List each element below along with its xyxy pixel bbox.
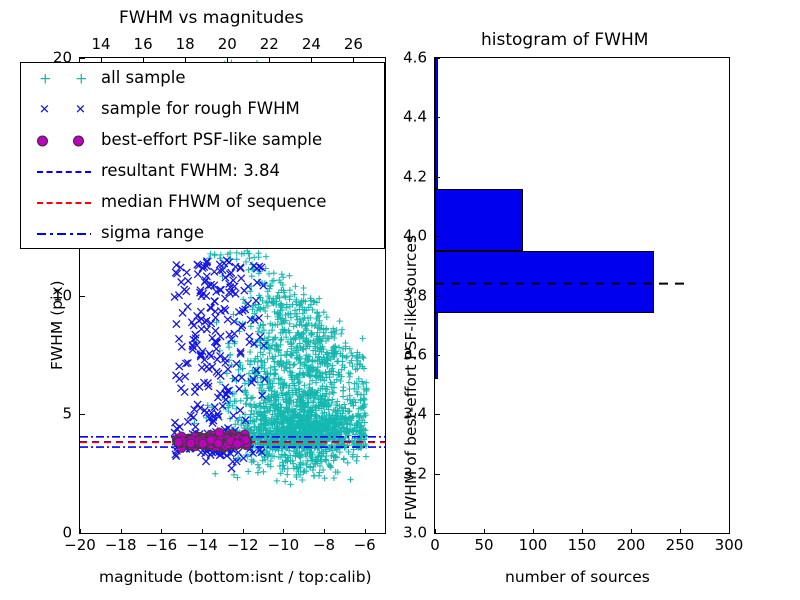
legend-marker-plus-icon: ++ [29,66,101,92]
legend-marker-cross-icon: ✕✕ [29,97,101,123]
left-top-tick-label: 22 [260,37,279,52]
left-x-tick-label: −14 [186,538,218,553]
left-x-tick-label: −20 [64,538,96,553]
left-x-tick-mark [121,529,122,533]
left-x-tick-label: −12 [227,538,259,553]
histogram-y-tick-mark [435,355,440,356]
histogram-x-tick-mark [631,529,632,533]
histogram-overlay [435,58,729,533]
left-x-tick-mark [365,529,366,533]
histogram-x-tick-label: 150 [568,538,597,553]
legend-marker-dashdot-line-icon [29,221,101,247]
left-top-tick-label: 18 [176,37,195,52]
legend-item[interactable]: best-effort PSF-like sample [21,125,384,156]
histogram-y-tick-mark [435,533,440,534]
legend-label: sample for rough FWHM [101,101,300,118]
histogram-x-tick-label: 250 [666,538,695,553]
histogram-y-axis-label: FWHM of best-effort PSF-like sources [404,235,420,520]
cross-icon: ✕ [75,103,86,116]
plus-icon: + [39,71,52,86]
left-x-tick-label: −16 [146,538,178,553]
histogram-y-tick-mark [435,414,440,415]
left-top-tick-label: 26 [344,37,363,52]
left-top-tick-label: 20 [218,37,237,52]
legend-marker-dashed-line-icon [29,190,101,216]
plus-icon: + [75,71,88,86]
histogram-y-tick-mark [435,58,440,59]
histogram-x-tick-label: 0 [430,538,440,553]
left-x-tick-label: −10 [268,538,300,553]
histogram-y-tick-label: 4.2 [403,169,427,184]
histogram-x-tick-mark [582,529,583,533]
histogram-y-tick-mark [435,117,440,118]
left-top-tick-label: 14 [91,37,110,52]
left-top-tick-mark [101,58,102,62]
histogram-y-tick-mark [435,177,440,178]
histogram-y-tick-mark [435,236,440,237]
left-x-tick-label: −18 [105,538,137,553]
left-y-tick-mark [80,296,85,297]
histogram-y-tick-label: 4.6 [403,51,427,66]
left-x-tick-label: −8 [313,538,335,553]
right-plot-title: histogram of FWHM [481,32,648,49]
legend-label: all sample [101,70,186,87]
left-y-tick-mark [80,414,85,415]
left-x-tick-mark [202,529,203,533]
histogram-x-tick-label: 100 [519,538,548,553]
left-top-tick-mark [185,58,186,62]
dashed-line-icon [37,202,91,204]
histogram-y-tick-mark [435,296,440,297]
legend-item[interactable]: resultant FWHM: 3.84 [21,156,384,187]
legend-item[interactable]: ++all sample [21,63,384,94]
legend-label: best-effort PSF-like sample [101,132,322,149]
histogram-x-tick-mark [435,529,436,533]
legend-marker-dashed-line-icon [29,159,101,185]
left-x-tick-mark [161,529,162,533]
legend-item[interactable]: sigma range [21,218,384,249]
histogram-y-tick-label: 3.0 [403,526,427,541]
left-plot-title: FWHM vs magnitudes [119,10,304,27]
histogram-x-tick-mark [729,529,730,533]
figure-canvas: FWHM vs magnitudes 14161820222426 051020… [0,0,800,600]
histogram-x-tick-label: 200 [617,538,646,553]
legend: ++all sample✕✕sample for rough FWHMbest-… [20,62,385,249]
left-top-tick-mark [143,58,144,62]
legend-label: resultant FWHM: 3.84 [101,163,280,180]
histogram-x-tick-label: 300 [715,538,744,553]
left-x-tick-label: −6 [354,538,376,553]
histogram-y-tick-label: 4.4 [403,110,427,125]
legend-label: median FHWM of sequence [101,194,326,211]
left-top-tick-mark [311,58,312,62]
legend-label: sigma range [101,225,204,242]
histogram-x-tick-mark [533,529,534,533]
histogram-x-axis-label: number of sources [505,570,650,586]
left-x-tick-mark [243,529,244,533]
legend-item[interactable]: ✕✕sample for rough FWHM [21,94,384,125]
left-top-tick-label: 16 [134,37,153,52]
legend-item[interactable]: median FHWM of sequence [21,187,384,218]
dashed-line-icon [37,171,91,173]
left-top-tick-label: 24 [302,37,321,52]
left-top-tick-mark [227,58,228,62]
left-x-axis-label: magnitude (bottom:isnt / top:calib) [99,570,372,586]
left-y-tick-label: 5 [62,407,72,422]
histogram-x-tick-label: 50 [474,538,493,553]
left-x-tick-mark [283,529,284,533]
cross-icon: ✕ [39,103,50,116]
left-y-axis-label: FWHM (pix) [50,280,66,370]
histogram-x-tick-mark [484,529,485,533]
circle-icon [73,135,84,146]
left-y-tick-mark [80,533,85,534]
left-y-tick-mark [80,58,85,59]
left-x-tick-mark [324,529,325,533]
legend-marker-circle-icon [29,128,101,154]
dashdot-line-icon [37,233,91,235]
histogram-x-tick-mark [680,529,681,533]
circle-icon [37,135,48,146]
histogram-y-tick-mark [435,474,440,475]
left-top-tick-mark [269,58,270,62]
left-top-tick-mark [353,58,354,62]
